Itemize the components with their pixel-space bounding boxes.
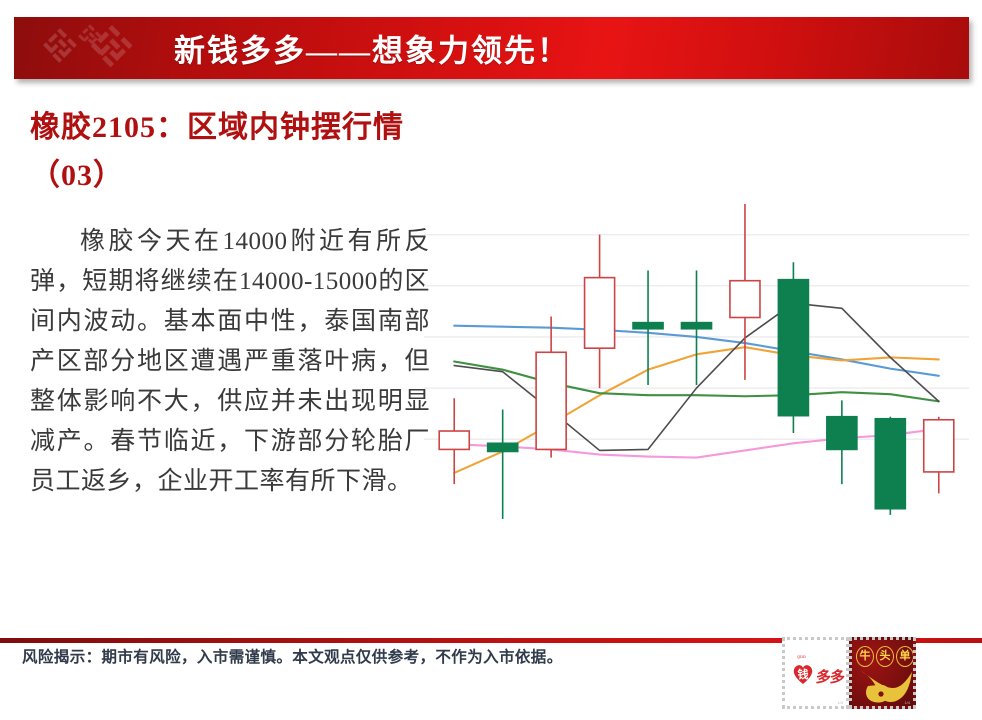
candlestick-chart xyxy=(424,196,969,541)
stamp-corner-text: 1/4 xyxy=(904,700,910,705)
stamp-micro-text: QDD xyxy=(797,654,806,659)
stamp-char-3: 单 xyxy=(896,646,914,667)
heart-icon: 钱 xyxy=(791,662,815,686)
stamp-char-2: 头 xyxy=(876,646,894,667)
header-title: 新钱多多——想象力领先！ xyxy=(174,26,570,71)
brand-logo: QDD 钱 多多 1/4 牛 头 单 1/4 xyxy=(782,637,919,709)
stamp-char-1: 牛 xyxy=(856,646,874,667)
stamp-right-chars: 牛 头 单 xyxy=(856,646,914,667)
stamp-brand-text: 多多 xyxy=(815,666,845,687)
analysis-paragraph: 橡胶今天在14000附近有所反弹，短期将继续在14000-15000的区间内波动… xyxy=(30,222,430,502)
chart-svg xyxy=(424,196,969,541)
heart-char: 钱 xyxy=(798,667,809,681)
qianduoduo-stamp: QDD 钱 多多 1/4 xyxy=(782,637,849,709)
chinese-knot-emblem-icon xyxy=(30,19,150,77)
chart-candles xyxy=(439,204,954,519)
stamp-corner-text: 1/4 xyxy=(837,700,843,705)
header-banner: 新钱多多——想象力领先！ xyxy=(14,17,969,79)
niutoudan-stamp: 牛 头 单 1/4 xyxy=(849,637,916,709)
page-title: 橡胶2105：区域内钟摆行情（03） xyxy=(30,104,430,200)
risk-disclaimer: 风险揭示：期市有风险，入市需谨慎。本文观点仅供参考，不作为入市依据。 xyxy=(22,645,563,667)
